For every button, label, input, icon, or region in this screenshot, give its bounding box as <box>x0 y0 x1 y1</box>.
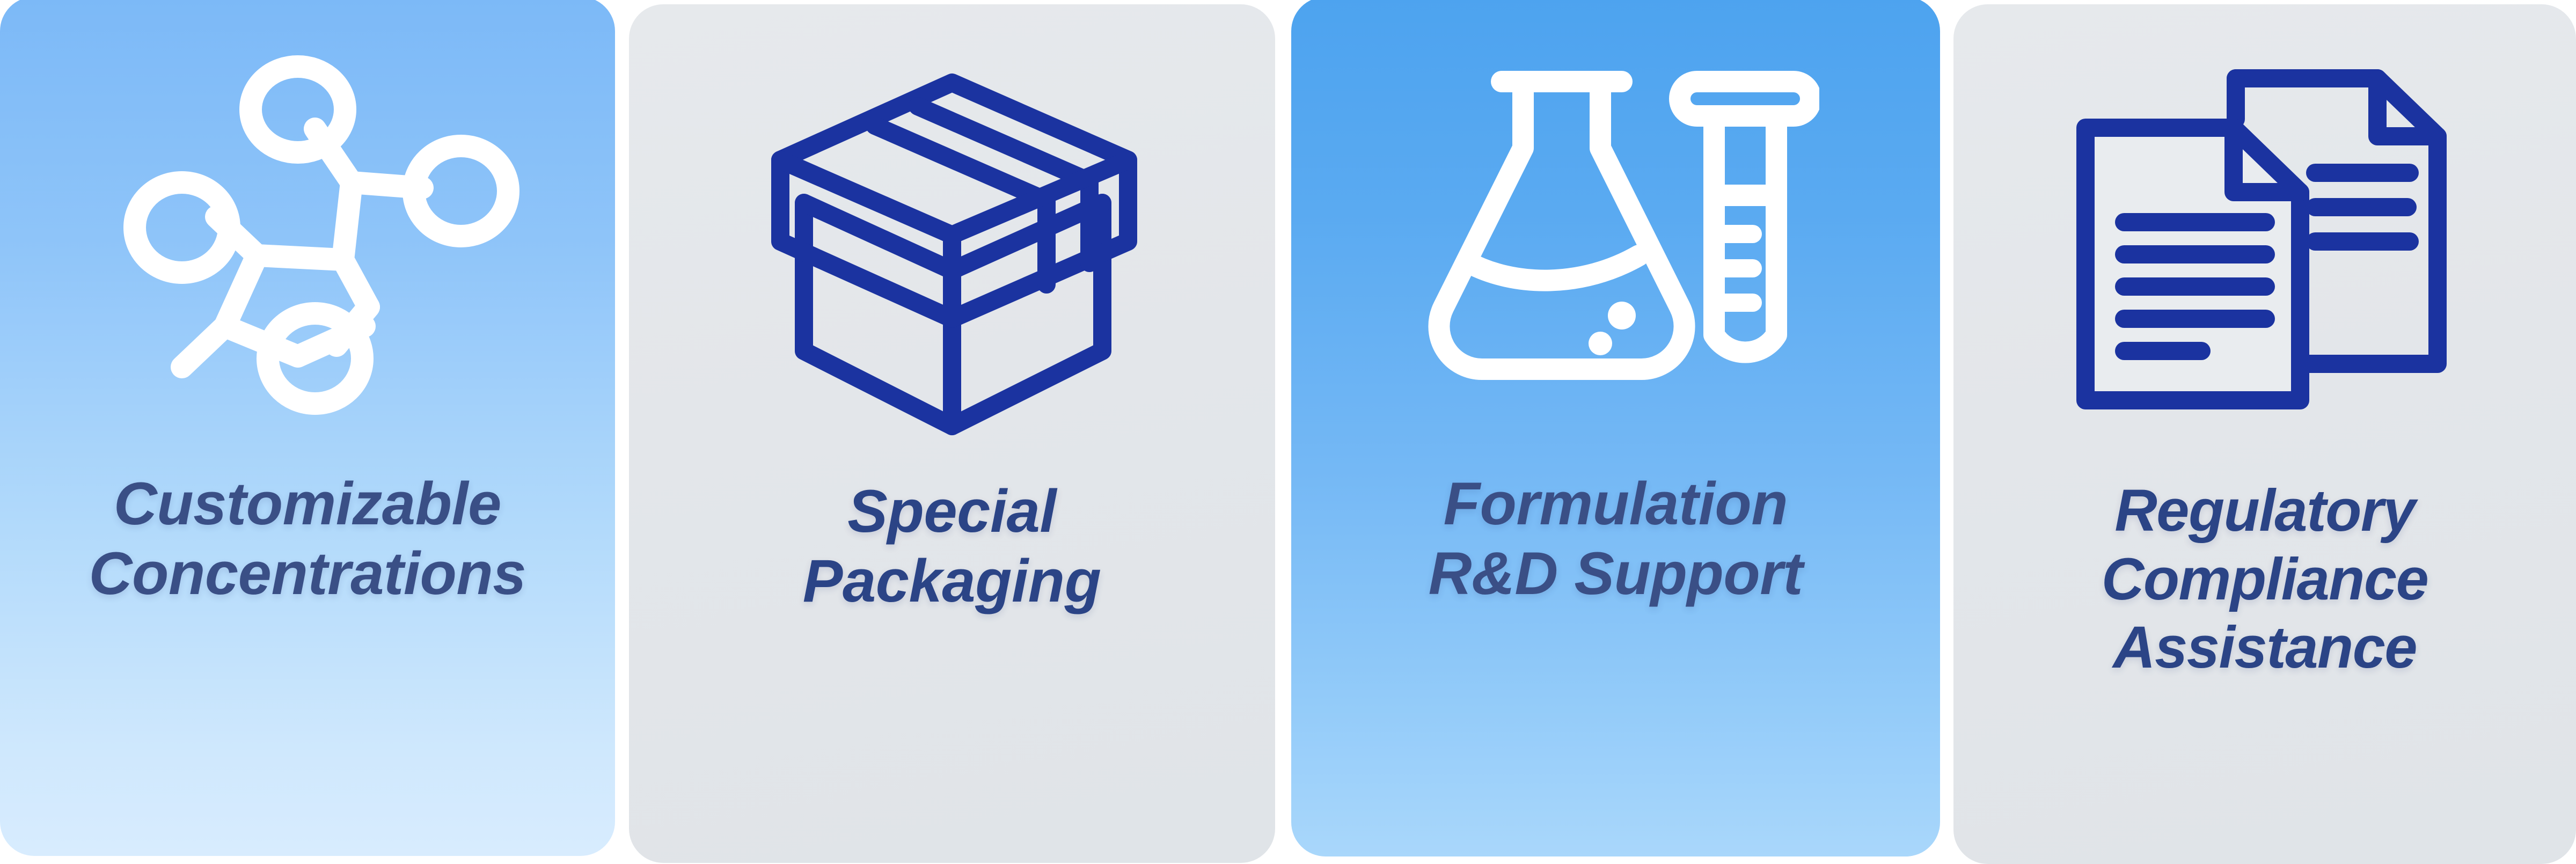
flask-test-tube-icon <box>1291 0 1941 469</box>
card-regulatory-compliance-assistance[interactable]: Regulatory Compliance Assistance <box>1953 4 2576 864</box>
card-label-regulatory-compliance-assistance: Regulatory Compliance Assistance <box>1953 477 2576 682</box>
card-label-special-packaging: Special Packaging <box>629 477 1275 616</box>
documents-icon <box>1953 4 2576 477</box>
molecule-icon <box>0 0 615 469</box>
package-box-icon <box>629 4 1275 477</box>
feature-card-row: Customizable Concentrations <box>0 0 2576 859</box>
card-label-customizable-concentrations: Customizable Concentrations <box>0 469 615 609</box>
card-customizable-concentrations[interactable]: Customizable Concentrations <box>0 0 615 856</box>
card-formulation-rd-support[interactable]: Formulation R&D Support <box>1291 0 1941 856</box>
card-label-formulation-rd-support: Formulation R&D Support <box>1291 469 1941 609</box>
card-special-packaging[interactable]: Special Packaging <box>629 4 1275 863</box>
